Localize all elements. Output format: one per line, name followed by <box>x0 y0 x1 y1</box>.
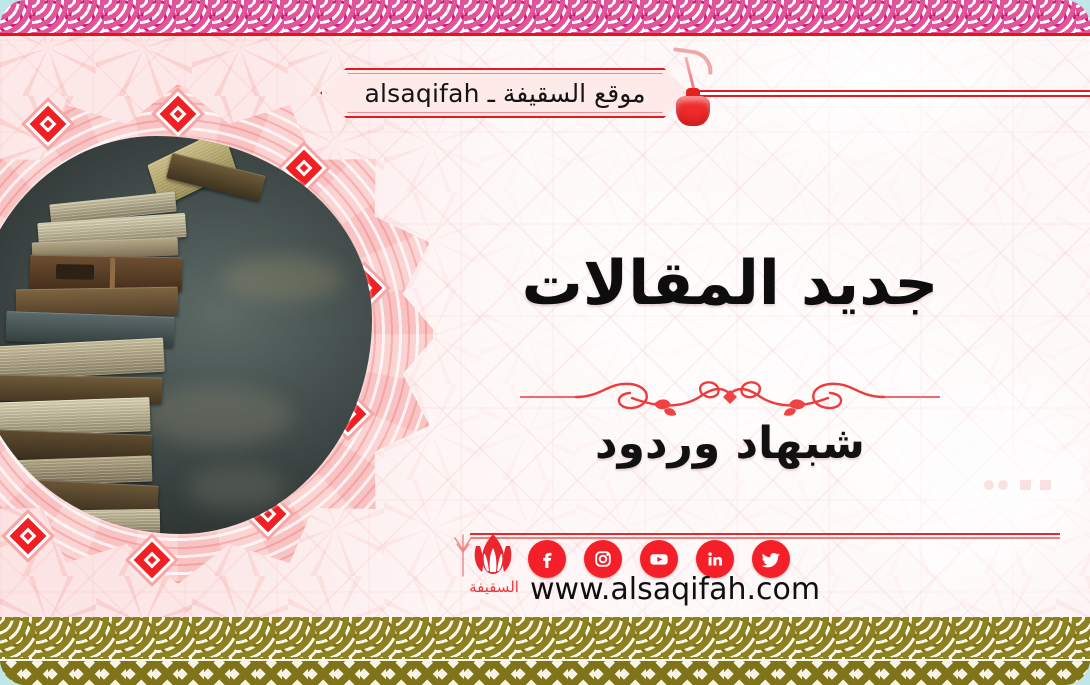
page-subtitle: شبهاد وردود <box>520 418 940 469</box>
bottom-ornament-band <box>0 617 1090 685</box>
footer-rule <box>470 533 1060 539</box>
floral-divider-icon <box>520 376 940 418</box>
logo-wordmark: السقيفة <box>456 578 532 596</box>
banner-canvas: موقع السقيفة ـ alsaqifah <box>0 0 1090 685</box>
site-logo[interactable]: السقيفة <box>452 528 534 602</box>
olive-chevron-row <box>0 659 1090 685</box>
bell-ornament-icon <box>676 96 710 126</box>
pink-star-overlay <box>0 0 1090 36</box>
logo-tulip-icon <box>470 532 516 576</box>
pink-lattice-pattern <box>0 0 1090 36</box>
top-ornament-band <box>0 0 1090 36</box>
banner-card: موقع السقيفة ـ alsaqifah <box>0 0 1090 685</box>
photo-frame <box>0 84 448 584</box>
band-red-hairline <box>0 33 1090 36</box>
site-url[interactable]: www.alsaqifah.com <box>530 572 950 607</box>
background-ui-artifact <box>962 452 1082 532</box>
page-title: جديد المقالات <box>470 252 990 316</box>
header-rule <box>688 90 1090 97</box>
